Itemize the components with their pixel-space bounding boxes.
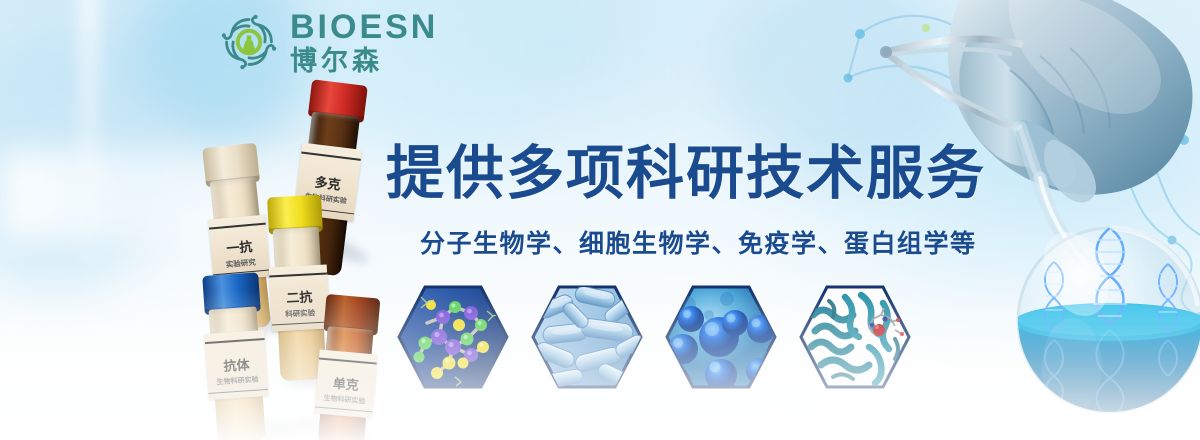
logo-name-en: BIOESN [290, 10, 438, 44]
flask-icon [243, 35, 255, 54]
vial-label-sub: 实验研究 [226, 257, 257, 271]
vial-label-text: 一抗 [226, 236, 254, 257]
bottom-fade [0, 290, 1200, 440]
vial-label: 一抗 实验研究 [209, 215, 271, 282]
logo-name-cn: 博尔森 [290, 48, 438, 75]
pinwheel-flask-logo-icon [216, 9, 282, 75]
hero-banner: BIOESN 博尔森 一抗 实验研究 多克 生物科研实验 [0, 0, 1200, 440]
vial-cap [267, 195, 323, 232]
vial-label-text: 多克 [314, 171, 342, 193]
brand-logo[interactable]: BIOESN 博尔森 [216, 8, 438, 75]
